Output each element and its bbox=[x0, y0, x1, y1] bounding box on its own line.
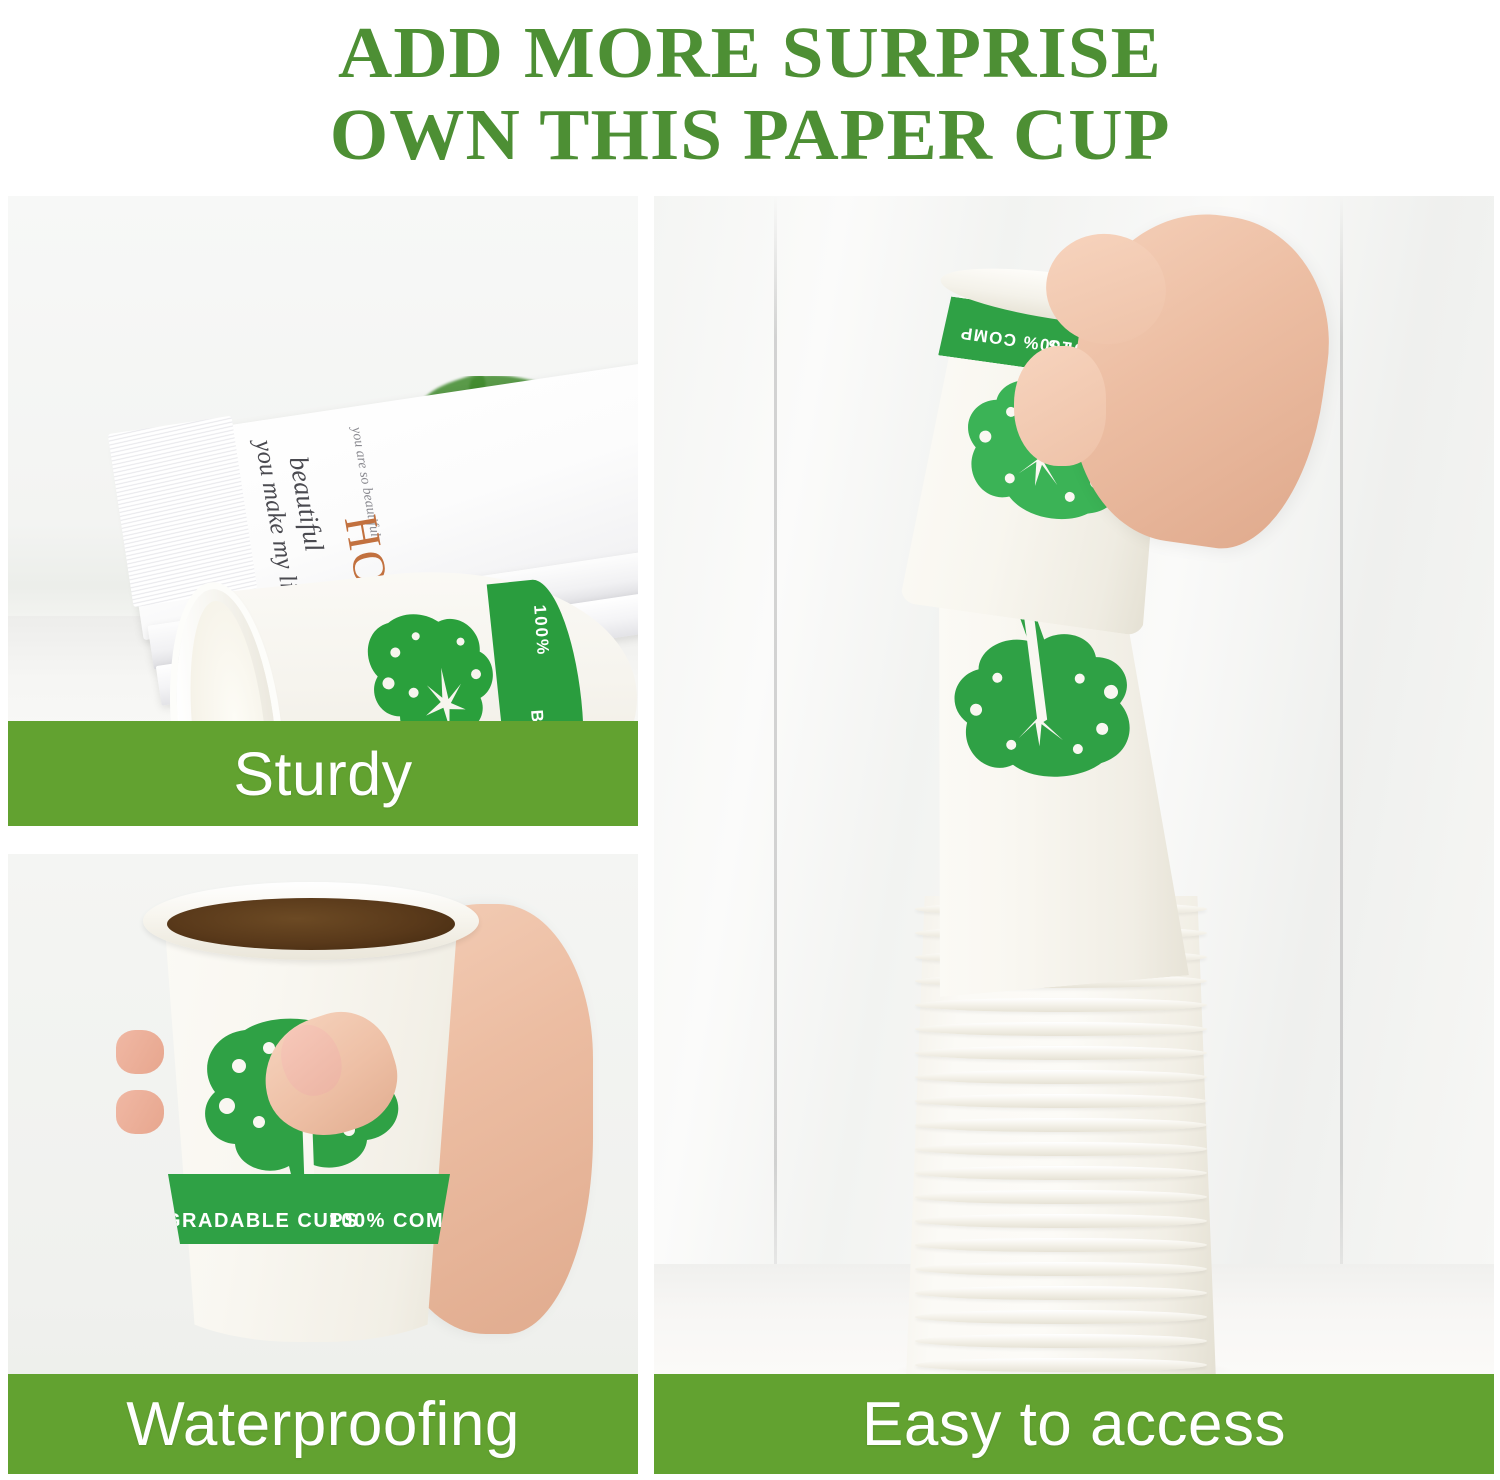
cup-band-text-left: 100% bbox=[529, 604, 553, 657]
cup-rim bbox=[915, 1358, 1206, 1372]
cup-rim bbox=[915, 1118, 1206, 1132]
cup-rim bbox=[915, 1262, 1206, 1276]
coffee-surface bbox=[167, 898, 455, 950]
cup-rim bbox=[915, 1214, 1206, 1228]
panel-easy-to-access: 100% COMP DABLE CUPS Easy to access bbox=[654, 196, 1494, 1474]
cup-green-band: GRADABLE CUPS 100% COMP bbox=[159, 1174, 459, 1244]
finger bbox=[116, 1030, 164, 1074]
cup-band-text-right: 100% COMP bbox=[329, 1210, 459, 1233]
caption-easy-to-access-label: Easy to access bbox=[862, 1389, 1286, 1460]
caption-waterproofing: Waterproofing bbox=[8, 1374, 638, 1474]
panel-sturdy: you are so beautiful you make my life be… bbox=[8, 196, 638, 826]
finger bbox=[1014, 346, 1106, 466]
cup-rim bbox=[915, 1286, 1206, 1300]
caption-easy-to-access: Easy to access bbox=[654, 1374, 1494, 1474]
caption-waterproofing-label: Waterproofing bbox=[126, 1389, 520, 1460]
cup-rim bbox=[915, 1334, 1206, 1348]
cup-rim bbox=[915, 1238, 1206, 1252]
panel-waterproofing: GRADABLE CUPS 100% COMP Waterproofing bbox=[8, 854, 638, 1474]
cup-rim bbox=[915, 1070, 1206, 1084]
cup-rim bbox=[915, 1142, 1206, 1156]
headline-line-1: ADD MORE SURPRISE bbox=[338, 17, 1162, 89]
caption-sturdy-label: Sturdy bbox=[233, 739, 412, 809]
cup-rim bbox=[915, 1094, 1206, 1108]
product-infographic: ADD MORE SURPRISE OWN THIS PAPER CUP you… bbox=[0, 0, 1500, 1480]
finger bbox=[116, 1090, 164, 1134]
caption-sturdy: Sturdy bbox=[8, 721, 638, 826]
headline: ADD MORE SURPRISE OWN THIS PAPER CUP bbox=[0, 0, 1500, 188]
curtain-fold bbox=[774, 196, 777, 1376]
cup-rim bbox=[915, 1190, 1206, 1204]
cup-rim bbox=[915, 1310, 1206, 1324]
cup-rim bbox=[915, 1046, 1206, 1060]
cup-rim bbox=[915, 1166, 1206, 1180]
headline-line-2: OWN THIS PAPER CUP bbox=[330, 99, 1171, 171]
curtain-fold bbox=[1340, 196, 1343, 1376]
cup-rim bbox=[915, 1022, 1206, 1036]
book-page-edges bbox=[108, 416, 257, 608]
